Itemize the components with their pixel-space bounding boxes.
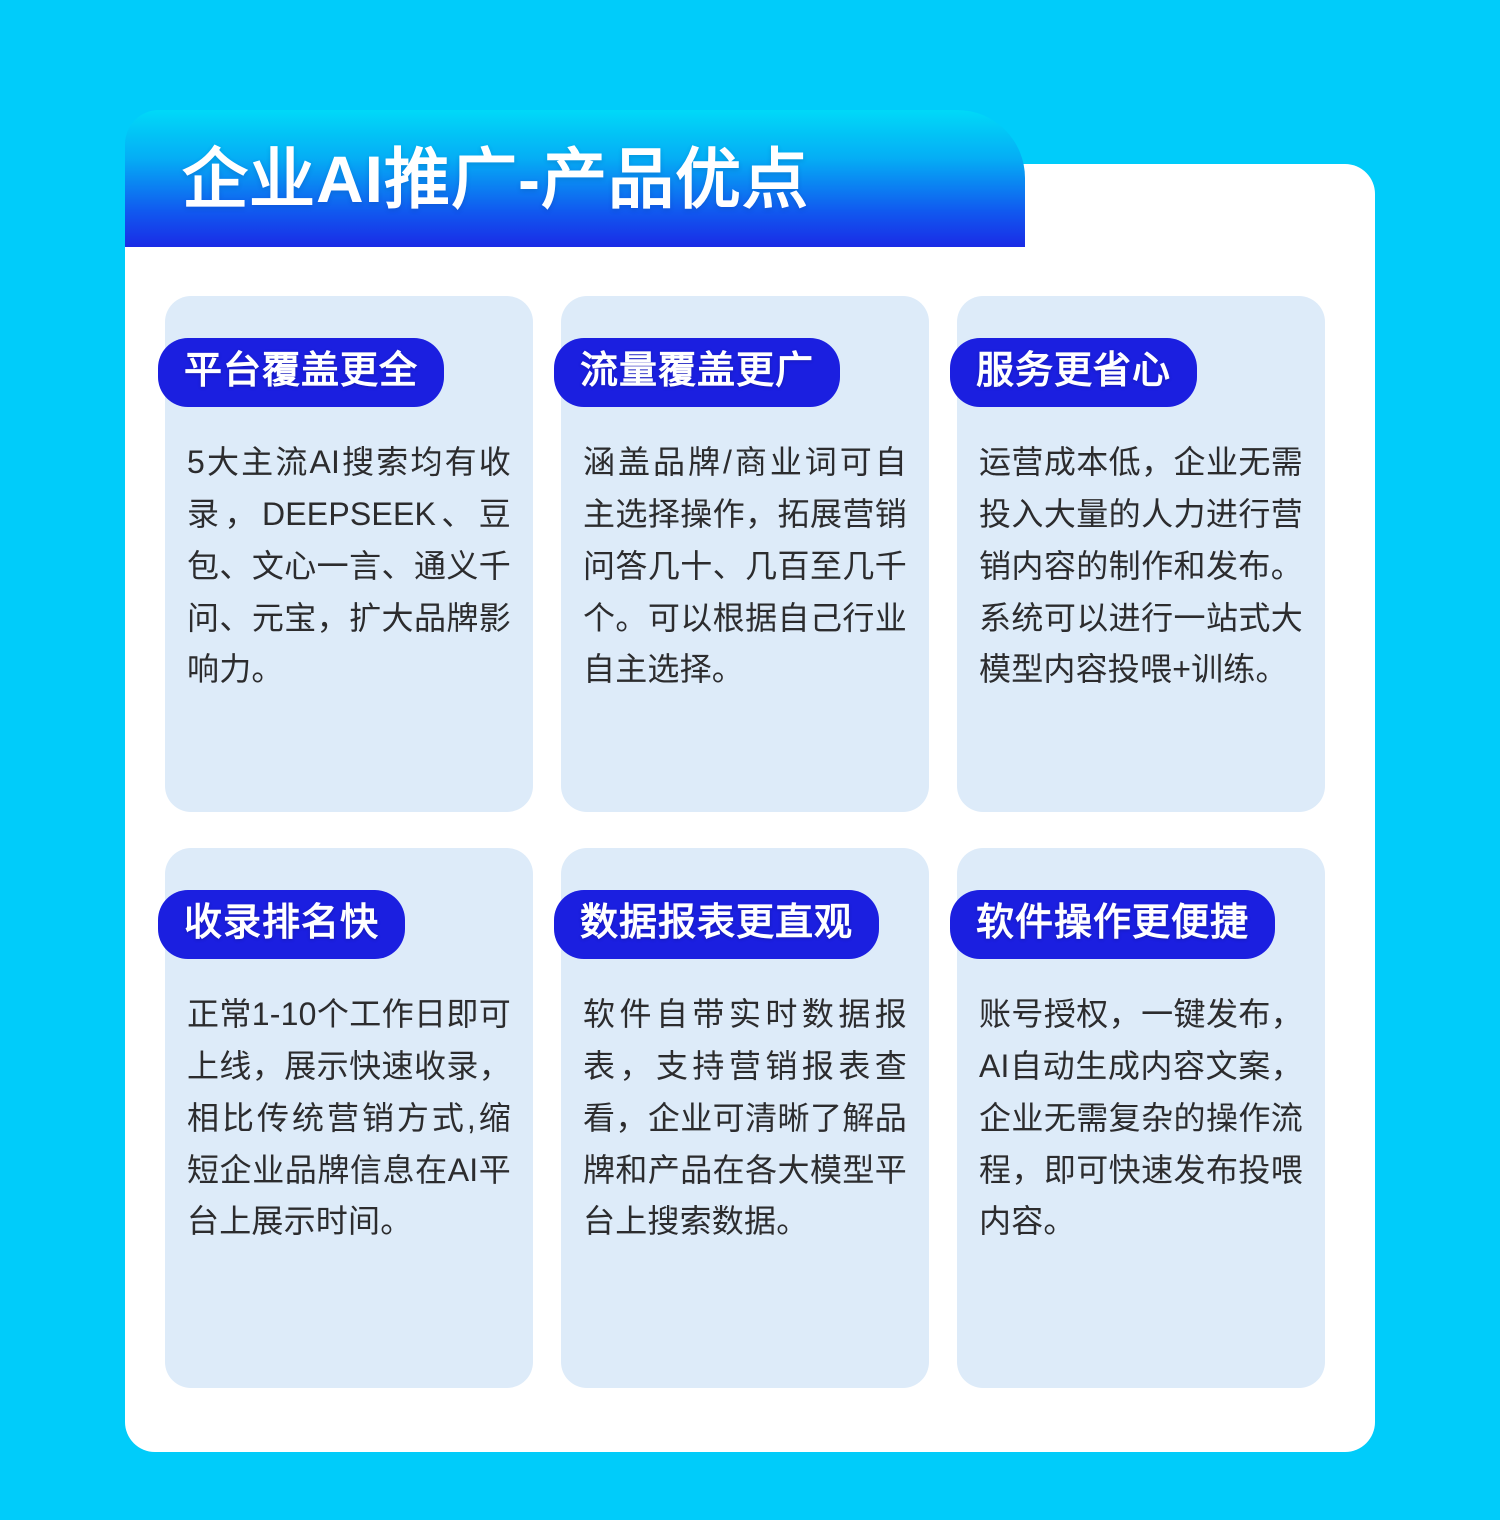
poster-root: 企业AI推广-产品优点 平台覆盖更全 5大主流AI搜索均有收录，DEEPSEEK… <box>0 0 1500 1520</box>
feature-card-1: 平台覆盖更全 5大主流AI搜索均有收录，DEEPSEEK、豆包、文心一言、通义千… <box>165 296 533 812</box>
feature-card-2: 流量覆盖更广 涵盖品牌/商业词可自主选择操作，拓展营销问答几十、几百至几千个。可… <box>561 296 929 812</box>
feature-card-2-badge: 流量覆盖更广 <box>554 338 840 407</box>
feature-card-6: 软件操作更便捷 账号授权，一键发布， AI自动生成内容文案，企业无需复杂的操作流… <box>957 848 1325 1388</box>
feature-card-5: 数据报表更直观 软件自带实时数据报表，支持营销报表查看，企业可清晰了解品牌和产品… <box>561 848 929 1388</box>
feature-card-4: 收录排名快 正常1-10个工作日即可上线，展示快速收录，相比传统营销方式,缩短企… <box>165 848 533 1388</box>
feature-card-4-body: 正常1-10个工作日即可上线，展示快速收录，相比传统营销方式,缩短企业品牌信息在… <box>165 989 533 1274</box>
feature-card-4-badge: 收录排名快 <box>158 890 405 959</box>
feature-card-1-body: 5大主流AI搜索均有收录，DEEPSEEK、豆包、文心一言、通义千问、元宝，扩大… <box>165 437 533 722</box>
feature-card-3-badge: 服务更省心 <box>950 338 1197 407</box>
feature-card-grid: 平台覆盖更全 5大主流AI搜索均有收录，DEEPSEEK、豆包、文心一言、通义千… <box>165 296 1345 1388</box>
feature-card-5-body: 软件自带实时数据报表，支持营销报表查看，企业可清晰了解品牌和产品在各大模型平台上… <box>561 989 929 1274</box>
feature-card-6-body: 账号授权，一键发布， AI自动生成内容文案，企业无需复杂的操作流程，即可快速发布… <box>957 989 1325 1274</box>
feature-card-3-body: 运营成本低，企业无需投入大量的人力进行营销内容的制作和发布。系统可以进行一站式大… <box>957 437 1325 722</box>
page-title: 企业AI推广-产品优点 <box>125 146 809 212</box>
title-banner: 企业AI推广-产品优点 <box>125 110 1025 247</box>
feature-card-1-badge: 平台覆盖更全 <box>158 338 444 407</box>
feature-card-5-badge: 数据报表更直观 <box>554 890 879 959</box>
feature-card-6-badge: 软件操作更便捷 <box>950 890 1275 959</box>
feature-card-3: 服务更省心 运营成本低，企业无需投入大量的人力进行营销内容的制作和发布。系统可以… <box>957 296 1325 812</box>
feature-card-2-body: 涵盖品牌/商业词可自主选择操作，拓展营销问答几十、几百至几千个。可以根据自己行业… <box>561 437 929 722</box>
